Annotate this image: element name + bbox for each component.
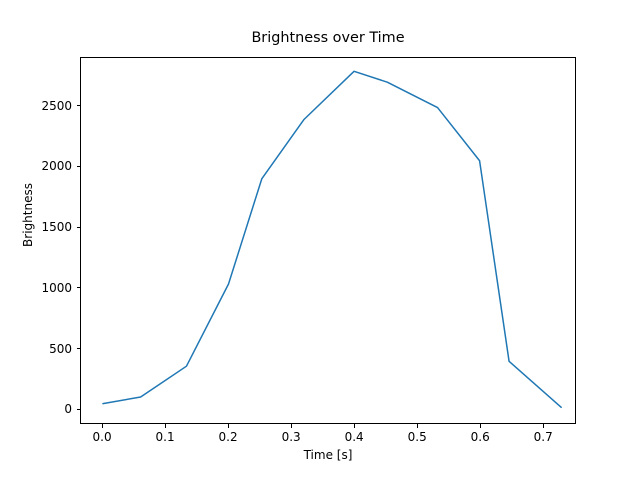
x-tick-label: 0.6 xyxy=(471,430,490,444)
plot-axes-area xyxy=(80,57,576,424)
x-tick-label: 0.5 xyxy=(408,430,427,444)
chart-title: Brightness over Time xyxy=(80,30,576,47)
x-tick-mark xyxy=(480,424,481,428)
y-tick-label: 2500 xyxy=(12,99,72,113)
y-tick-label: 1000 xyxy=(12,281,72,295)
x-tick-mark xyxy=(417,424,418,428)
y-tick-mark xyxy=(77,409,81,410)
y-tick-mark xyxy=(77,105,81,106)
x-tick-mark xyxy=(102,424,103,428)
x-tick-mark xyxy=(543,424,544,428)
y-axis-label: Brightness xyxy=(21,155,35,275)
data-line-svg xyxy=(81,58,575,423)
series-line-brightness xyxy=(103,71,561,407)
x-tick-label: 0.7 xyxy=(534,430,553,444)
y-tick-mark xyxy=(77,348,81,349)
x-tick-label: 0.2 xyxy=(219,430,238,444)
y-tick-mark xyxy=(77,227,81,228)
x-axis-label: Time [s] xyxy=(80,448,576,462)
y-tick-mark xyxy=(77,287,81,288)
matplotlib-figure: Brightness over Time 0.00.10.20.30.40.50… xyxy=(0,0,640,480)
x-tick-mark xyxy=(291,424,292,428)
y-tick-label: 0 xyxy=(12,402,72,416)
y-tick-mark xyxy=(77,166,81,167)
x-tick-mark xyxy=(354,424,355,428)
x-tick-mark xyxy=(165,424,166,428)
x-tick-mark xyxy=(228,424,229,428)
x-tick-label: 0.1 xyxy=(156,430,175,444)
y-tick-label: 500 xyxy=(12,342,72,356)
x-tick-label: 0.4 xyxy=(345,430,364,444)
x-tick-label: 0.0 xyxy=(93,430,112,444)
x-tick-label: 0.3 xyxy=(282,430,301,444)
